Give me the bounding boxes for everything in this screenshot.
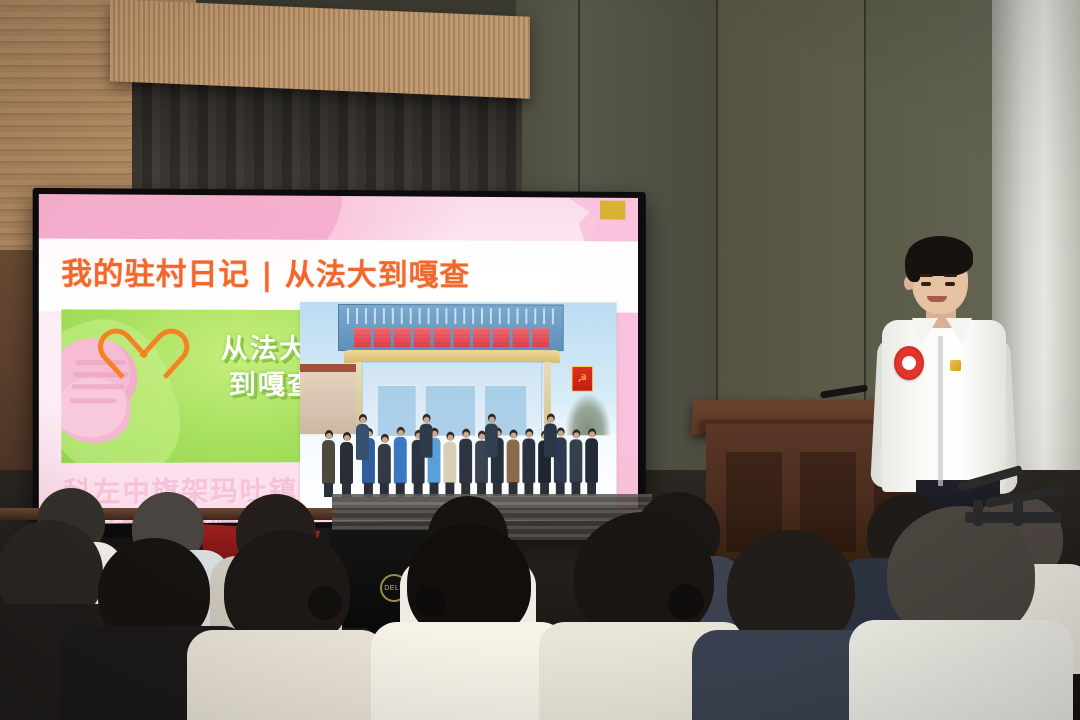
green-banner-text: 从法大 到嘎查 [221,332,308,404]
finger-line [69,398,116,403]
photo-party-emblem: ☭ [572,366,594,392]
hair-bun [308,586,342,620]
green-banner-line-1: 从法大 [221,332,308,368]
slide-corner-marker [600,201,625,220]
hair-bun [416,586,446,616]
stand-leg [973,500,983,526]
stand-bar [985,485,1065,508]
audience-area: DELL [0,438,1080,720]
finger-line [72,384,125,389]
equipment-stand-rig [955,452,1075,544]
attendee-body [187,630,387,720]
speaker-hair-side [905,250,921,282]
stand-bar [957,465,1023,492]
heart-icon [114,316,169,364]
list-item [212,530,362,720]
speaker-mouth [927,296,947,302]
speaker-eye [921,282,931,286]
speaker-red-badge [894,346,924,380]
stand-leg [1013,498,1023,526]
list-item [394,524,544,720]
hair-bun [668,584,704,620]
photo-mongolian-script [347,308,555,324]
list-item [716,530,866,720]
speaker-party-pin [950,360,961,371]
attendee-body [371,622,567,720]
party-emblem-glyph: ☭ [577,373,587,384]
photo-chinese-banner-text [345,326,557,348]
presentation-scene: 我的驻村日记 | 从法大到嘎查 从法大 到嘎查 [0,0,1080,720]
speaker-eye [945,282,955,286]
slide-title: 我的驻村日记 | 从法大到嘎查 [61,249,470,295]
speaker-eyebrow [944,274,957,277]
photo-building-banner [338,304,564,351]
attendee-body [849,620,1073,720]
speaker-eyebrow [920,274,933,277]
